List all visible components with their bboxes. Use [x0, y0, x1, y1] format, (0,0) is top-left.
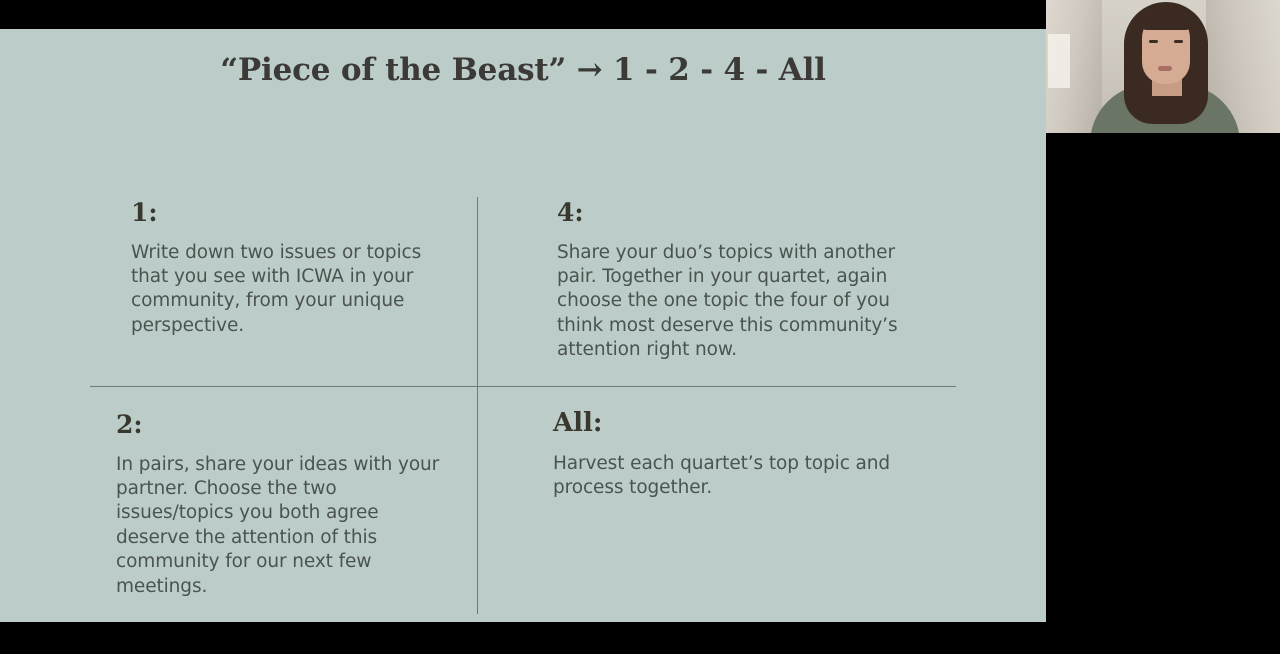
video-person-mouth — [1158, 66, 1172, 71]
quadrant-one: 1: Write down two issues or topics that … — [131, 199, 431, 338]
quadrant-two-body: In pairs, share your ideas with your par… — [116, 453, 446, 599]
presentation-slide: “Piece of the Beast” → 1 - 2 - 4 - All 1… — [0, 29, 1046, 622]
quadrant-two-heading: 2: — [116, 411, 446, 439]
video-window-light — [1048, 34, 1070, 88]
participant-video-tile[interactable] — [1046, 0, 1280, 133]
quadrant-divider-vertical — [477, 197, 478, 614]
video-person-eye-right — [1174, 40, 1183, 43]
quadrant-four-body: Share your duo’s topics with another pai… — [557, 241, 907, 363]
quadrant-one-body: Write down two issues or topics that you… — [131, 241, 431, 339]
quadrant-two: 2: In pairs, share your ideas with your … — [116, 411, 446, 599]
video-person-eye-left — [1149, 40, 1158, 43]
quadrant-one-heading: 1: — [131, 199, 431, 227]
video-person-fringe — [1139, 8, 1193, 30]
quadrant-four-heading: 4: — [557, 199, 907, 227]
screen-share-region: “Piece of the Beast” → 1 - 2 - 4 - All 1… — [0, 0, 1280, 654]
quadrant-all: All: Harvest each quartet’s top topic an… — [553, 409, 903, 500]
quadrant-four: 4: Share your duo’s topics with another … — [557, 199, 907, 363]
quadrant-all-heading: All: — [553, 409, 903, 438]
quadrant-all-body: Harvest each quartet’s top topic and pro… — [553, 452, 903, 501]
quadrant-divider-horizontal — [90, 386, 956, 387]
page-title: “Piece of the Beast” → 1 - 2 - 4 - All — [0, 52, 1046, 88]
